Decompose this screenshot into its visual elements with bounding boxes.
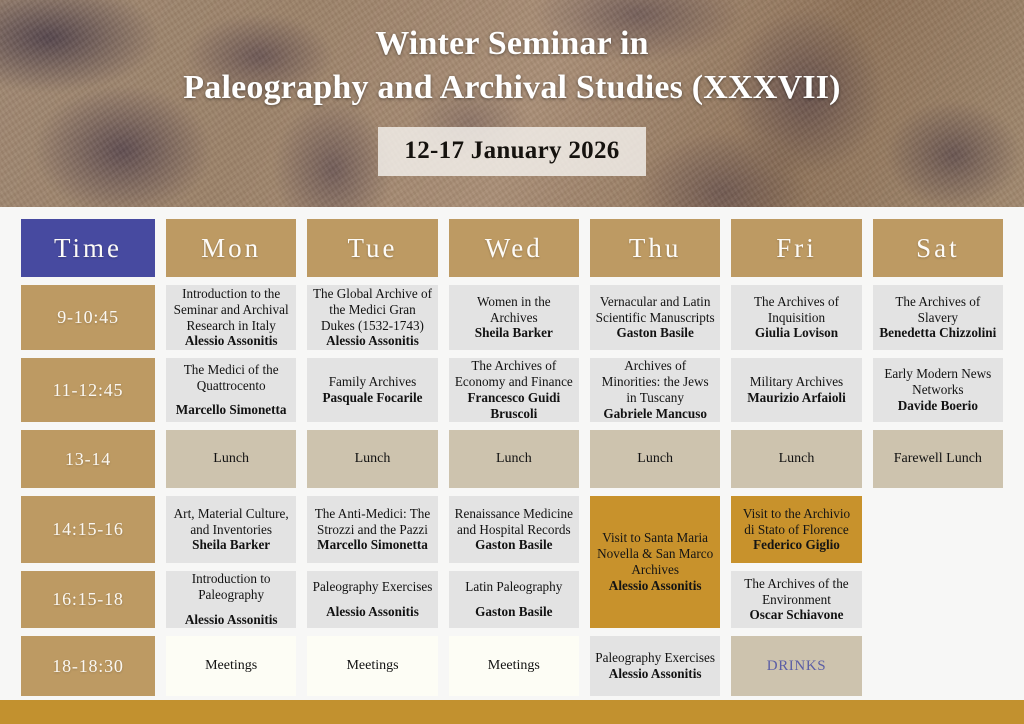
session-text: Introduction to the Seminar and Archival… [171, 286, 291, 349]
session-cell-visit-to-the-archivio-di-stato-of-florence[interactable]: Visit to the Archivio di Stato of Floren… [731, 496, 861, 563]
session-title: Introduction to Paleography [192, 571, 271, 602]
column-header-label: Fri [736, 233, 856, 264]
seminar-title-line-1: Winter Seminar in [375, 22, 649, 66]
session-text: Lunch [454, 451, 574, 468]
session-cell-the-archives-of-slavery[interactable]: The Archives of SlaveryBenedetta Chizzol… [873, 285, 1003, 350]
session-title: Paleography Exercises [595, 650, 715, 665]
session-speaker: Sheila Barker [454, 325, 574, 341]
session-text: Farewell Lunch [878, 451, 998, 468]
session-text: Meetings [454, 658, 574, 675]
session-title: The Archives of Inquisition [754, 294, 839, 325]
session-cell-renaissance-medicine-and-hospital-records[interactable]: Renaissance Medicine and Hospital Record… [449, 496, 579, 563]
session-text: The Archives of InquisitionGiulia Loviso… [736, 294, 856, 342]
session-speaker: Gaston Basile [454, 537, 574, 553]
session-text: Visit to the Archivio di Stato of Floren… [736, 506, 856, 554]
column-header-mon: Mon [166, 219, 296, 277]
session-text: Vernacular and Latin Scientific Manuscri… [595, 294, 715, 342]
session-spacer [454, 595, 574, 604]
session-speaker: Alessio Assonitis [595, 578, 715, 594]
column-header-label: Thu [595, 233, 715, 264]
session-text: Military ArchivesMaurizio Arfaioli [736, 374, 856, 406]
session-cell-the-anti-medici-the-strozzi-and-the-pazzi[interactable]: The Anti-Medici: The Strozzi and the Paz… [307, 496, 437, 563]
session-speaker: Alessio Assonitis [312, 333, 432, 349]
session-title: Lunch [496, 451, 532, 466]
session-text: Introduction to PaleographyAlessio Asson… [171, 571, 291, 628]
session-title: The Archives of Economy and Finance [455, 358, 573, 389]
session-cell-introduction-to-the-seminar-and-archival-research-in-italy[interactable]: Introduction to the Seminar and Archival… [166, 285, 296, 350]
time-slot-label: 16:15-18 [26, 589, 150, 610]
session-cell-meetings[interactable]: Meetings [449, 636, 579, 696]
session-cell-the-archives-of-inquisition[interactable]: The Archives of InquisitionGiulia Loviso… [731, 285, 861, 350]
time-slot-label: 14:15-16 [26, 519, 150, 540]
session-cell-the-archives-of-the-environment[interactable]: The Archives of the EnvironmentOscar Sch… [731, 571, 861, 628]
session-title: Latin Paleography [465, 579, 562, 594]
seminar-dates-badge: 12-17 January 2026 [378, 127, 645, 176]
time-slot-label: 13-14 [26, 449, 150, 470]
seminar-title-line-2: Paleography and Archival Studies (XXXVII… [183, 66, 840, 110]
session-cell-family-archives[interactable]: Family ArchivesPasquale Focarile [307, 358, 437, 422]
session-speaker: Benedetta Chizzolini [878, 325, 998, 341]
session-cell-the-global-archive-of-the-medici-gran-dukes-1532-1743[interactable]: The Global Archive of the Medici Gran Du… [307, 285, 437, 350]
session-title: Women in the Archives [477, 294, 551, 325]
session-title: The Anti-Medici: The Strozzi and the Paz… [315, 506, 431, 537]
session-speaker: Oscar Schiavone [736, 607, 856, 623]
header-banner: Winter Seminar in Paleography and Archiv… [0, 0, 1024, 207]
session-title: Visit to the Archivio di Stato of Floren… [743, 506, 850, 537]
session-cell-lunch[interactable]: Lunch [307, 430, 437, 488]
session-title: Meetings [205, 658, 257, 673]
session-text: Renaissance Medicine and Hospital Record… [454, 506, 574, 554]
empty-cell [873, 636, 1003, 696]
time-slot-9-10-45: 9-10:45 [21, 285, 155, 350]
session-title: Meetings [488, 658, 540, 673]
session-title: Paleography Exercises [313, 579, 433, 594]
footer-accent-bar [0, 700, 1024, 724]
session-cell-farewell-lunch[interactable]: Farewell Lunch [873, 430, 1003, 488]
time-slot-label: 11-12:45 [26, 380, 150, 401]
session-title: Family Archives [329, 374, 417, 389]
session-cell-archives-of-minorities-the-jews-in-tuscany[interactable]: Archives of Minorities: the Jews in Tusc… [590, 358, 720, 422]
session-cell-lunch[interactable]: Lunch [731, 430, 861, 488]
session-speaker: Alessio Assonitis [171, 333, 291, 349]
session-text: Women in the ArchivesSheila Barker [454, 294, 574, 342]
column-header-label: Sat [878, 233, 998, 264]
session-speaker: Gabriele Mancuso [595, 406, 715, 422]
session-speaker: Federico Giglio [736, 537, 856, 553]
column-header-label: Wed [454, 233, 574, 264]
session-cell-military-archives[interactable]: Military ArchivesMaurizio Arfaioli [731, 358, 861, 422]
session-spacer [171, 603, 291, 612]
session-cell-lunch[interactable]: Lunch [449, 430, 579, 488]
session-title: Renaissance Medicine and Hospital Record… [455, 506, 573, 537]
session-speaker: Davide Boerio [878, 398, 998, 414]
schedule-grid: TimeMonTueWedThuFriSat9-10:45Introductio… [21, 219, 1003, 696]
session-text: Paleography ExercisesAlessio Assonitis [312, 579, 432, 620]
session-text: Archives of Minorities: the Jews in Tusc… [595, 358, 715, 421]
session-text: Lunch [736, 451, 856, 468]
session-speaker: Alessio Assonitis [171, 612, 291, 628]
session-cell-latin-paleography[interactable]: Latin PaleographyGaston Basile [449, 571, 579, 628]
time-slot-18-18-30: 18-18:30 [21, 636, 155, 696]
column-header-wed: Wed [449, 219, 579, 277]
column-header-fri: Fri [731, 219, 861, 277]
session-speaker: Pasquale Focarile [312, 390, 432, 406]
time-slot-16-15-18: 16:15-18 [21, 571, 155, 628]
session-text: Lunch [312, 451, 432, 468]
column-header-tue: Tue [307, 219, 437, 277]
session-title: Meetings [346, 658, 398, 673]
session-speaker: Marcello Simonetta [171, 402, 291, 418]
session-text: Lunch [171, 451, 291, 468]
session-text: DRINKS [736, 657, 856, 675]
time-slot-label: 9-10:45 [26, 307, 150, 328]
session-title: The Global Archive of the Medici Gran Du… [313, 286, 432, 333]
session-spacer [171, 393, 291, 402]
session-text: The Archives of the EnvironmentOscar Sch… [736, 576, 856, 624]
session-cell-visit-to-santa-maria-novella-san-marco-archives[interactable]: Visit to Santa Maria Novella & San Marco… [590, 496, 720, 628]
session-text: The Anti-Medici: The Strozzi and the Paz… [312, 506, 432, 554]
column-header-label: Mon [171, 233, 291, 264]
session-text: Paleography ExercisesAlessio Assonitis [595, 650, 715, 682]
session-cell-vernacular-and-latin-scientific-manuscripts[interactable]: Vernacular and Latin Scientific Manuscri… [590, 285, 720, 350]
session-title: DRINKS [767, 658, 826, 674]
session-text: Art, Material Culture, and InventoriesSh… [171, 506, 291, 554]
session-title: Archives of Minorities: the Jews in Tusc… [602, 358, 709, 405]
session-speaker: Alessio Assonitis [312, 604, 432, 620]
session-text: Early Modern News NetworksDavide Boerio [878, 366, 998, 414]
session-cell-lunch[interactable]: Lunch [166, 430, 296, 488]
session-title: Lunch [779, 451, 815, 466]
session-cell-paleography-exercises[interactable]: Paleography ExercisesAlessio Assonitis [307, 571, 437, 628]
session-title: Lunch [355, 451, 391, 466]
column-header-sat: Sat [873, 219, 1003, 277]
session-cell-meetings[interactable]: Meetings [166, 636, 296, 696]
session-cell-introduction-to-paleography[interactable]: Introduction to PaleographyAlessio Asson… [166, 571, 296, 628]
session-cell-women-in-the-archives[interactable]: Women in the ArchivesSheila Barker [449, 285, 579, 350]
session-speaker: Maurizio Arfaioli [736, 390, 856, 406]
time-slot-13-14: 13-14 [21, 430, 155, 488]
session-title: The Medici of the Quattrocento [184, 362, 279, 393]
session-title: Visit to Santa Maria Novella & San Marco… [597, 530, 713, 577]
session-cell-the-archives-of-economy-and-finance[interactable]: The Archives of Economy and FinanceFranc… [449, 358, 579, 422]
session-speaker: Sheila Barker [171, 537, 291, 553]
session-title: Farewell Lunch [894, 451, 982, 466]
session-title: Vernacular and Latin Scientific Manuscri… [596, 294, 715, 325]
session-title: Introduction to the Seminar and Archival… [174, 286, 289, 333]
session-title: Military Archives [750, 374, 843, 389]
session-spacer [312, 595, 432, 604]
session-title: Lunch [637, 451, 673, 466]
time-slot-label: 18-18:30 [26, 656, 150, 677]
session-text: Family ArchivesPasquale Focarile [312, 374, 432, 406]
session-speaker: Alessio Assonitis [595, 666, 715, 682]
session-text: Lunch [595, 451, 715, 468]
session-title: Art, Material Culture, and Inventories [174, 506, 289, 537]
session-title: The Archives of the Environment [744, 576, 848, 607]
session-text: Visit to Santa Maria Novella & San Marco… [595, 530, 715, 593]
session-cell-drinks[interactable]: DRINKS [731, 636, 861, 696]
session-title: Lunch [213, 451, 249, 466]
session-cell-paleography-exercises[interactable]: Paleography ExercisesAlessio Assonitis [590, 636, 720, 696]
session-text: The Medici of the QuattrocentoMarcello S… [171, 362, 291, 419]
column-header-thu: Thu [590, 219, 720, 277]
session-speaker: Marcello Simonetta [312, 537, 432, 553]
time-slot-11-12-45: 11-12:45 [21, 358, 155, 422]
session-speaker: Giulia Lovison [736, 325, 856, 341]
time-slot-14-15-16: 14:15-16 [21, 496, 155, 563]
session-text: Meetings [171, 658, 291, 675]
empty-cell [873, 496, 1003, 563]
session-text: The Archives of SlaveryBenedetta Chizzol… [878, 294, 998, 342]
column-header-label: Tue [312, 233, 432, 264]
session-title: The Archives of Slavery [895, 294, 980, 325]
empty-cell [873, 571, 1003, 628]
session-title: Early Modern News Networks [884, 366, 991, 397]
session-cell-art-material-culture-and-inventories[interactable]: Art, Material Culture, and InventoriesSh… [166, 496, 296, 563]
session-cell-the-medici-of-the-quattrocento[interactable]: The Medici of the QuattrocentoMarcello S… [166, 358, 296, 422]
session-speaker: Francesco Guidi Bruscoli [454, 390, 574, 422]
session-cell-early-modern-news-networks[interactable]: Early Modern News NetworksDavide Boerio [873, 358, 1003, 422]
session-speaker: Gaston Basile [595, 325, 715, 341]
column-header-time: Time [21, 219, 155, 277]
session-text: Latin PaleographyGaston Basile [454, 579, 574, 620]
session-text: The Archives of Economy and FinanceFranc… [454, 358, 574, 421]
session-speaker: Gaston Basile [454, 604, 574, 620]
session-cell-meetings[interactable]: Meetings [307, 636, 437, 696]
session-cell-lunch[interactable]: Lunch [590, 430, 720, 488]
session-text: Meetings [312, 658, 432, 675]
column-header-label: Time [26, 233, 150, 264]
session-text: The Global Archive of the Medici Gran Du… [312, 286, 432, 349]
schedule-sheet: TimeMonTueWedThuFriSat9-10:45Introductio… [0, 207, 1024, 700]
